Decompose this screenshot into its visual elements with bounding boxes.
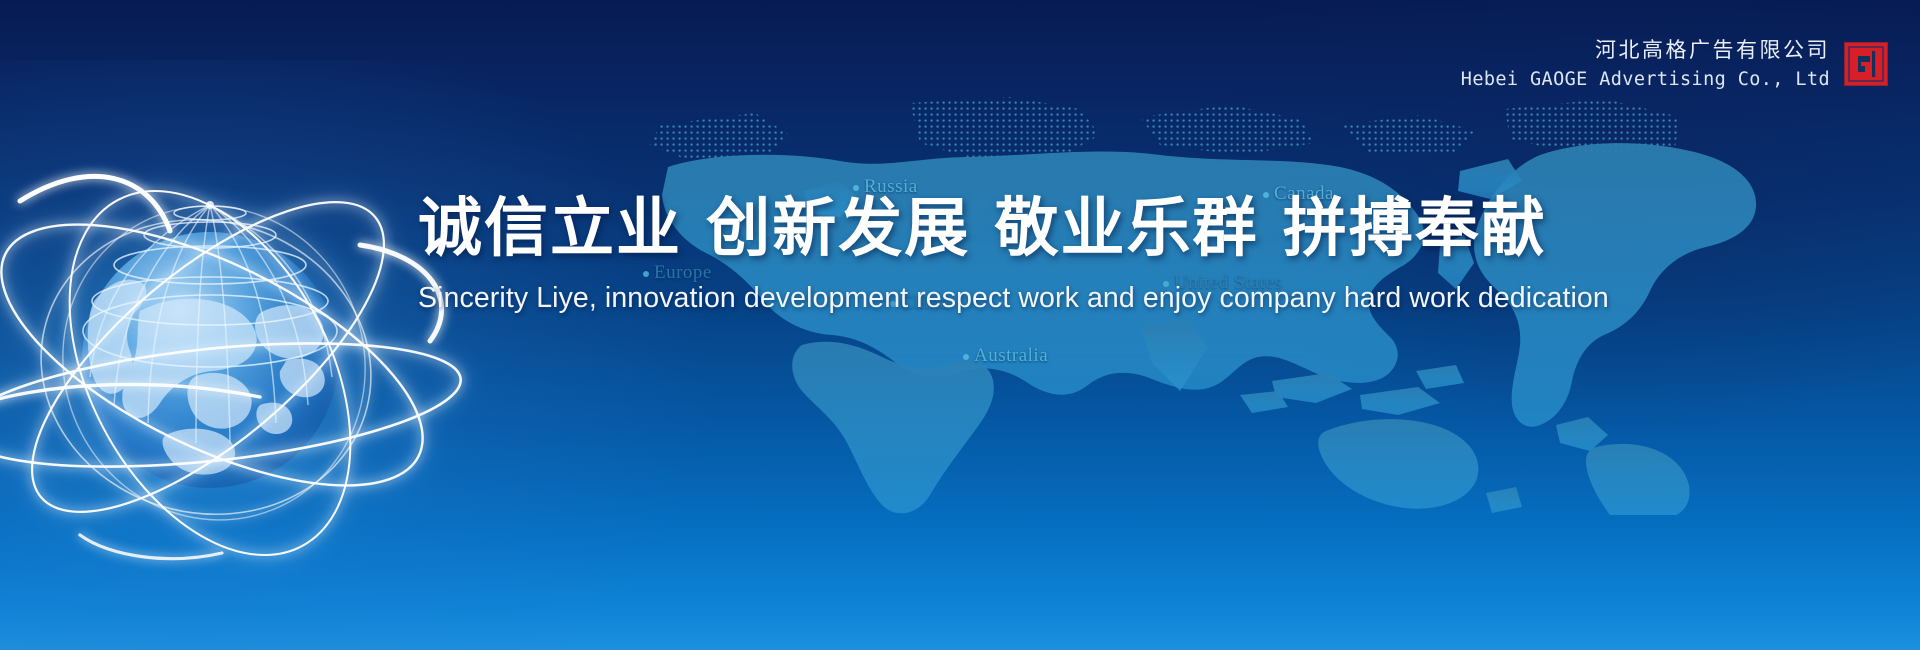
background-glow-left — [0, 60, 740, 650]
company-name-en: Hebei GAOGE Advertising Co., Ltd — [1461, 69, 1830, 91]
company-name-block: 河北高格广告有限公司 Hebei GAOGE Advertising Co., … — [1461, 38, 1830, 91]
map-dot-icon — [963, 354, 969, 360]
slogan-block: 诚信立业 创新发展 敬业乐群 拼搏奉献 Sincerity Liye, inno… — [418, 196, 1498, 315]
company-name-cn: 河北高格广告有限公司 — [1461, 38, 1830, 63]
map-label-australia: Australia — [963, 345, 1048, 367]
gaoge-logo-icon — [1844, 42, 1888, 86]
company-banner: Russia Canada Europe China United States… — [0, 0, 1920, 650]
slogan-chinese: 诚信立业 创新发展 敬业乐群 拼搏奉献 — [418, 196, 1498, 263]
globe-orbit-graphic — [0, 105, 480, 575]
company-header: 河北高格广告有限公司 Hebei GAOGE Advertising Co., … — [1461, 38, 1888, 91]
map-dot-icon — [853, 185, 859, 191]
slogan-english: Sincerity Liye, innovation development r… — [418, 282, 1498, 315]
